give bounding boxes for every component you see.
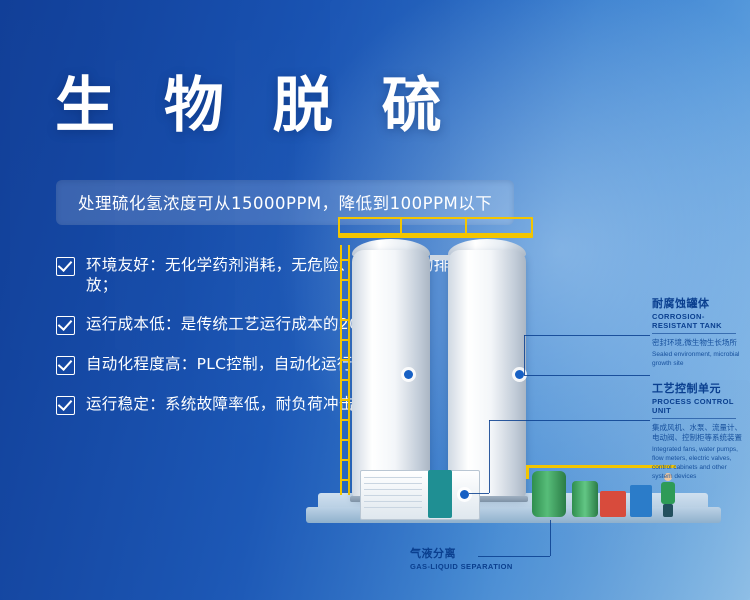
ladder-rung <box>340 399 350 401</box>
ladder-rung <box>340 459 350 461</box>
check-icon <box>56 257 75 276</box>
equipment-illustration: 耐腐蚀罐体 CORROSION-RESISTANT TANK 密封环境,微生物生… <box>300 215 750 585</box>
ladder-rung <box>340 319 350 321</box>
cabinet-door <box>428 470 452 518</box>
callout-divider <box>652 333 736 334</box>
check-icon <box>56 356 75 375</box>
ladder-rung <box>340 419 350 421</box>
yellow-pipe-riser <box>526 465 529 479</box>
leader-line-separation-riser <box>550 520 551 556</box>
poster-root: 生 物 脱 硫 处理硫化氢浓度可从15000PPM，降低到100PPM以下 环境… <box>0 0 750 600</box>
leader-line-tank-top <box>524 335 650 336</box>
leader-line-control-riser <box>489 420 490 493</box>
page-title: 生 物 脱 硫 <box>55 76 456 136</box>
leader-line-tank <box>524 375 650 376</box>
green-separator-tank <box>532 471 566 517</box>
ladder-rung <box>340 359 350 361</box>
check-icon <box>56 316 75 335</box>
hotspot-dot-tank-2[interactable] <box>515 370 524 379</box>
hotspot-dot-tank[interactable] <box>404 370 413 379</box>
connecting-pipe <box>430 255 450 260</box>
callout-desc-cn: 集成风机、水泵、流量计、电动阀、控制柜等系统装置 <box>652 423 748 443</box>
callout-title-en: CORROSION-RESISTANT TANK <box>652 312 748 330</box>
callout-title-cn: 工艺控制单元 <box>652 380 748 396</box>
callout-gas-liquid-separation: 气液分离 GAS-LIQUID SEPARATION <box>410 545 530 571</box>
callout-desc-en: Sealed environment, microbial growth sit… <box>652 350 748 368</box>
callout-desc-en: Integrated fans, water pumps, flow meter… <box>652 445 748 481</box>
operator-legs <box>663 504 673 517</box>
callout-title-cn: 耐腐蚀罐体 <box>652 295 748 311</box>
ladder-rung <box>340 279 350 281</box>
ladder-rung <box>340 259 350 261</box>
leader-line-tank-riser <box>524 335 525 375</box>
platform-handrail <box>338 217 533 219</box>
hotspot-dot-control-unit[interactable] <box>460 490 469 499</box>
callout-title-en: GAS-LIQUID SEPARATION <box>410 562 530 571</box>
cabinet-louvers <box>364 477 422 511</box>
callout-desc-cn: 密封环境,微生物生长场所 <box>652 338 748 348</box>
leader-line-control <box>469 493 489 494</box>
access-ladder <box>340 245 350 495</box>
red-pump-unit <box>600 491 626 517</box>
leader-line-control-top <box>489 420 650 421</box>
callout-process-control-unit: 工艺控制单元 PROCESS CONTROL UNIT 集成风机、水泵、流量计、… <box>652 380 748 481</box>
platform-deck <box>338 233 533 238</box>
blue-equipment-box <box>630 485 652 517</box>
ladder-rail <box>340 245 342 495</box>
ladder-rung <box>340 299 350 301</box>
ladder-rail <box>348 245 350 495</box>
ladder-rung <box>340 379 350 381</box>
callout-title-en: PROCESS CONTROL UNIT <box>652 397 748 415</box>
check-icon <box>56 396 75 415</box>
ladder-rung <box>340 439 350 441</box>
callout-title-cn: 气液分离 <box>410 545 530 561</box>
callout-corrosion-resistant-tank: 耐腐蚀罐体 CORROSION-RESISTANT TANK 密封环境,微生物生… <box>652 295 748 368</box>
green-vessel <box>572 481 598 517</box>
operator-body <box>661 482 675 504</box>
ladder-rung <box>340 339 350 341</box>
callout-divider <box>652 418 736 419</box>
ladder-rung <box>340 479 350 481</box>
bio-desulfurization-tank-1 <box>352 250 430 498</box>
